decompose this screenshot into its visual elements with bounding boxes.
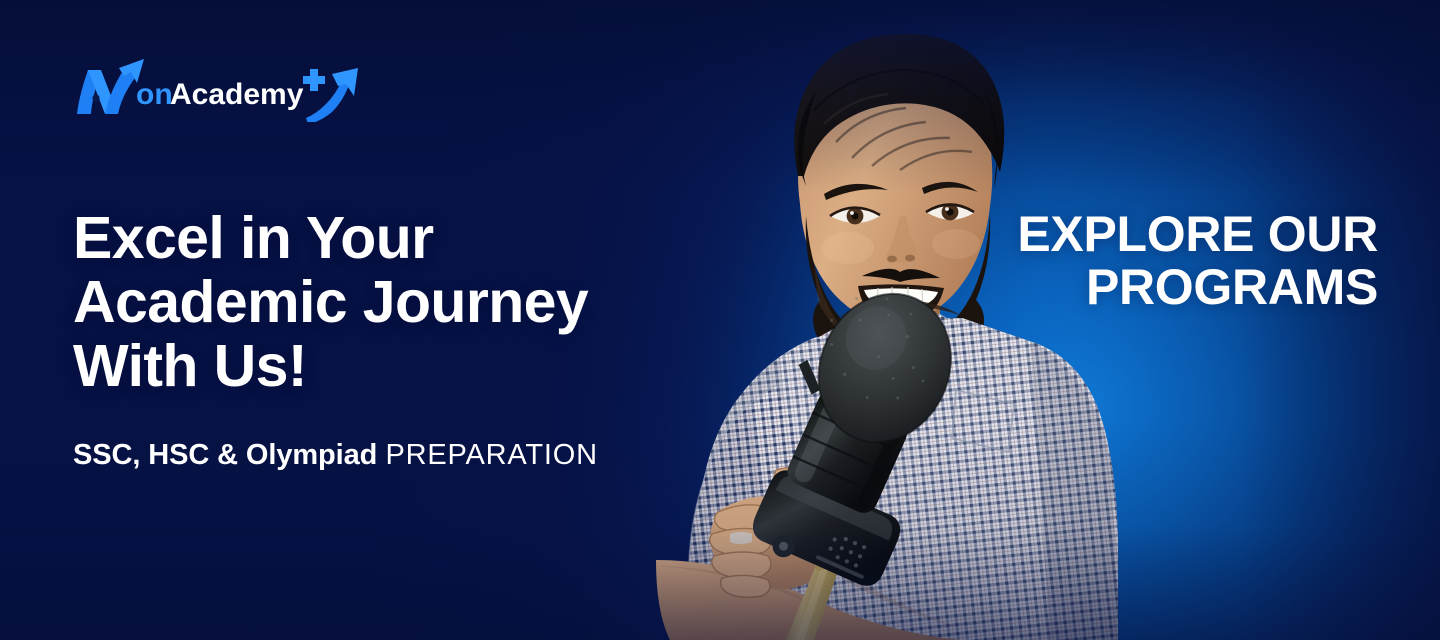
subheadline-bold: SSC, HSC & Olympiad (73, 439, 377, 471)
logo-text-academy: Academy (170, 78, 304, 111)
brand-logo[interactable]: on Academy (74, 56, 364, 122)
subheadline-light: PREPARATION (385, 439, 597, 471)
logo-text-on: on (136, 78, 173, 111)
hero-subheadline: SSC, HSC & Olympiad PREPARATION (73, 440, 598, 472)
n-upward-arrow-icon (75, 59, 144, 114)
plus-icon (303, 69, 325, 91)
hero-headline: Excel in Your Academic Journey With Us! (73, 206, 733, 398)
explore-programs-heading[interactable]: EXPLORE OUR PROGRAMS (958, 208, 1378, 314)
hero-banner: on Academy Excel in Your Academic Journe… (0, 0, 1440, 640)
